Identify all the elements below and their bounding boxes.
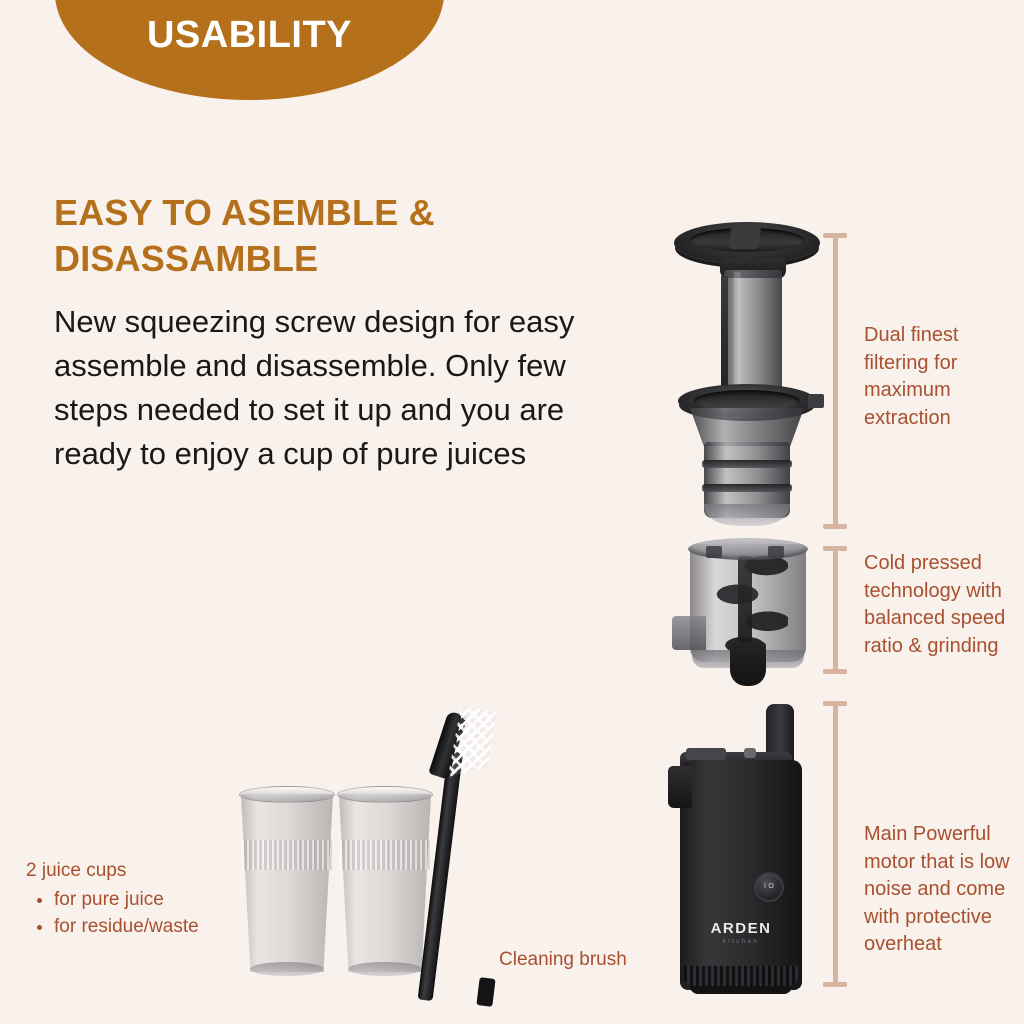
power-button-glyph: I O [764,883,774,891]
feature-label-motor: Main Powerful motor that is low noise an… [864,821,1024,959]
product-image-motor-base: I O ARDEN kitchen [668,704,832,996]
motor-ledge-icon [668,766,692,808]
cup-rim-icon [239,786,335,803]
bowl-notch-right-icon [768,546,784,558]
motor-pin-icon [744,748,756,758]
motor-body-icon [680,760,802,990]
bowl-spout-icon [672,616,706,650]
bracket-motor [822,701,848,987]
cup-body-icon [239,794,335,972]
filter-lid-slot-icon [729,227,761,249]
filter-cone-icon [690,408,804,446]
motor-foot-icon [690,986,792,994]
bracket-stem-icon [833,706,838,982]
bowl-chute-icon [730,642,766,686]
cup-base-icon [250,962,324,976]
brush-handle-icon [418,751,463,1001]
bracket-stem-icon [833,238,838,524]
motor-brand-mark: ARDEN kitchen [680,920,802,945]
left-text-column: EASY TO ASEMBLE & DISASSAMBLE New squeez… [54,190,654,476]
section-title: USABILITY [147,16,352,54]
filter-band-lower-icon [702,484,792,492]
brush-tip-icon [476,977,495,1007]
feature-label-filter: Dual finest filtering for maximum extrac… [864,322,1024,432]
filter-band-upper-icon [702,460,792,468]
list-item: for residue/waste [54,914,236,941]
usability-infographic-page: USABILITY EASY TO ASEMBLE & DISASSAMBLE … [0,0,1024,1024]
brand-name: ARDEN [680,920,802,937]
juice-cups-bullet-list: for pure juice for residue/waste [26,887,236,941]
feature-label-cold-press: Cold pressed technology with balanced sp… [864,550,1024,660]
product-image-bowl-assembly [672,538,822,684]
cup-ribbed-band-icon [242,840,332,870]
bracket-cold-press [822,546,848,674]
list-item: for pure juice [54,887,236,914]
page-body-copy: New squeezing screw design for easy asse… [54,300,629,476]
bracket-stem-icon [833,551,838,669]
product-image-juice-cup-1 [239,786,335,980]
juice-cups-title: 2 juice cups [26,858,236,885]
product-image-filter-assembly [664,218,830,530]
brand-sub: kitchen [680,939,802,945]
bowl-auger-icon [716,554,788,650]
product-image-cleaning-brush [404,706,504,1006]
bracket-cap-bottom-icon [823,669,847,674]
bracket-cap-bottom-icon [823,524,847,529]
section-header-tab: USABILITY [55,0,444,100]
bowl-auger-core-icon [738,556,752,652]
bowl-notch-left-icon [706,546,722,558]
filter-feed-tube-icon [724,270,782,398]
power-button[interactable]: I O [754,872,784,902]
juice-cups-caption: 2 juice cups for pure juice for residue/… [26,858,236,941]
bracket-filter [822,233,848,529]
filter-base-ring-icon [704,504,790,526]
cleaning-brush-label: Cleaning brush [499,948,627,973]
page-headline: EASY TO ASEMBLE & DISASSAMBLE [54,190,524,282]
motor-vents-icon [684,966,798,986]
bracket-cap-bottom-icon [823,982,847,987]
motor-shelf-tab-icon [686,748,726,760]
